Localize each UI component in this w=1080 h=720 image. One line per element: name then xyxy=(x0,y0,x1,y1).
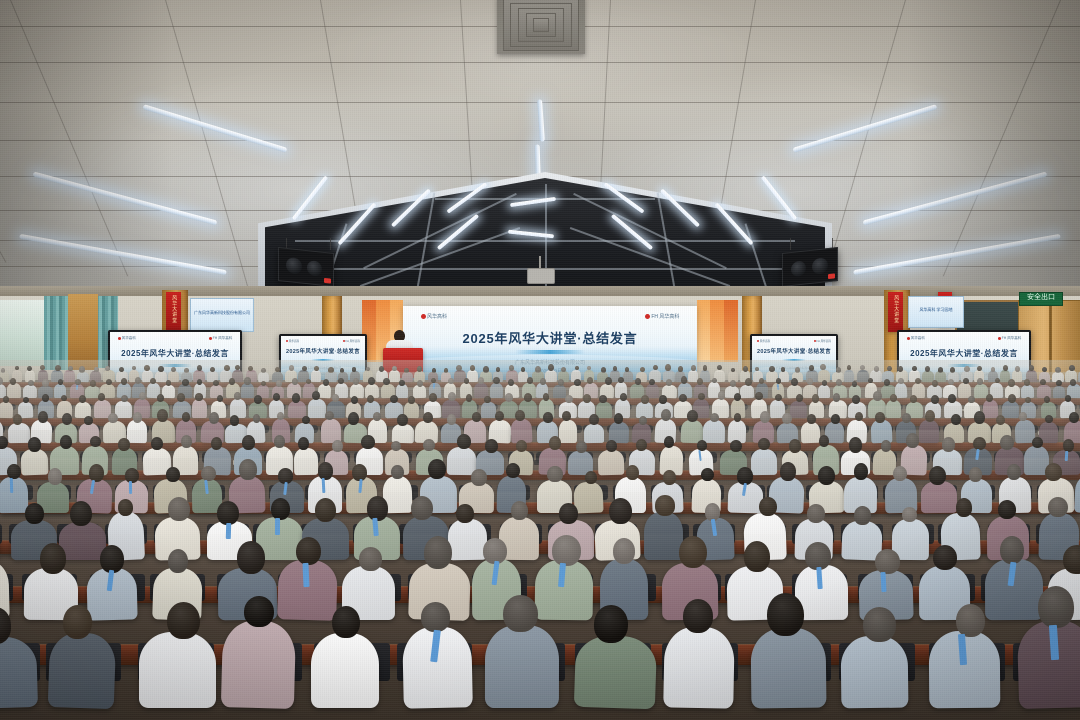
audience-member xyxy=(841,635,908,708)
audience-member-head xyxy=(915,378,922,385)
audience-member-head xyxy=(863,607,897,642)
audience-member-head xyxy=(157,394,164,402)
audience-member-head xyxy=(70,501,92,526)
audience-member xyxy=(293,447,317,475)
audience-member-head xyxy=(485,439,498,453)
audience-member-head xyxy=(125,468,139,483)
audience-member-head xyxy=(359,547,382,571)
audience-member-head xyxy=(893,466,907,482)
audience-member-head xyxy=(977,366,982,371)
audience-member-head xyxy=(968,396,975,404)
conference-hall-photo: 安全出口 风华大讲堂 风华大讲堂 广东风华高新科技股份有限公司 风华高科 学习园… xyxy=(0,0,1080,720)
audience-member-head xyxy=(1008,379,1015,387)
audience-member-head xyxy=(239,459,257,480)
logo-mark-icon xyxy=(645,314,650,319)
screen-logo-right: FH 风华高科 xyxy=(645,313,679,320)
lanyard xyxy=(776,384,779,390)
audience-member-head xyxy=(432,368,437,373)
audience-member-head xyxy=(1000,435,1014,451)
audience-member xyxy=(154,371,166,382)
audience-member-head xyxy=(276,380,282,387)
audience-member-head xyxy=(508,378,514,385)
audience-member-head xyxy=(351,395,358,404)
chair xyxy=(0,524,2,544)
audience-member xyxy=(895,382,907,398)
audience-member-head xyxy=(703,365,708,371)
audience-member xyxy=(7,383,21,398)
audience-member-head xyxy=(887,366,892,372)
audience-member-head xyxy=(509,365,514,371)
audience-member-head xyxy=(875,549,900,575)
poster-right-text: 风华高科 学习园地 xyxy=(909,307,963,313)
audience-member-head xyxy=(149,378,155,385)
audience-member-head xyxy=(296,537,322,566)
audience-member-head xyxy=(818,465,835,485)
audience-member-head xyxy=(730,380,736,387)
monitor-title: 2025年风华大讲堂·总结发言 xyxy=(752,347,836,355)
audience-member-head xyxy=(117,498,132,516)
audience-member-head xyxy=(40,543,66,574)
audience-member-head xyxy=(511,501,528,520)
audience-member-head xyxy=(390,441,400,451)
logo-mark-icon xyxy=(118,337,121,340)
audience-member-head xyxy=(1048,497,1068,518)
audience-member-head xyxy=(562,411,571,421)
audience-member-head xyxy=(678,536,706,569)
audience-member-head xyxy=(712,378,717,383)
audience-member-head xyxy=(852,395,860,404)
audience-member-head xyxy=(730,440,742,453)
audience-member xyxy=(1053,385,1066,398)
audience-member-head xyxy=(404,368,409,373)
audience-member xyxy=(139,632,216,708)
audience-member-head xyxy=(483,366,489,373)
audience-member-head xyxy=(301,416,309,424)
audience-member-head xyxy=(977,378,984,385)
monitor-logo-left: 风华高科 xyxy=(286,339,299,343)
audience-member-head xyxy=(924,410,934,422)
audience-member-head xyxy=(367,496,388,521)
audience-member-head xyxy=(929,466,946,485)
audience-member xyxy=(447,447,476,476)
audience-member-head xyxy=(121,395,128,402)
audience-member-head xyxy=(731,368,735,372)
audience-member-head xyxy=(794,367,800,373)
monitor-title: 2025年风华大讲堂·总结发言 xyxy=(281,347,365,355)
audience-member-head xyxy=(28,437,42,452)
audience-member-head xyxy=(565,395,573,404)
audience-member-head xyxy=(338,378,344,384)
audience-member-head xyxy=(195,393,202,401)
audience-member-head xyxy=(132,412,141,423)
audience-member-head xyxy=(805,542,831,570)
audience-member-head xyxy=(184,368,189,373)
audience-member-head xyxy=(854,412,862,422)
audience-member-head xyxy=(332,606,360,639)
audience-member-head xyxy=(105,379,111,386)
screen-logo-left-text: 风华高科 xyxy=(427,313,447,320)
stage-backdrop-strip xyxy=(724,300,738,362)
monitor-logo-right-text: FH 风华高科 xyxy=(213,336,233,341)
monitor-logo-left-text: 风华高科 xyxy=(760,339,770,343)
audience-member-head xyxy=(690,365,695,371)
audience-member-head xyxy=(806,414,815,424)
audience-member xyxy=(21,449,49,476)
audience-member-head xyxy=(399,380,405,386)
audience-member-head xyxy=(1032,437,1043,448)
audience-member-head xyxy=(168,497,191,521)
audience-member-head xyxy=(456,504,474,523)
audience-member-head xyxy=(298,436,309,450)
audience-member-head xyxy=(902,507,917,523)
audience-member-head xyxy=(332,440,343,452)
stage-backdrop-strip xyxy=(697,300,710,362)
audience-member xyxy=(664,626,735,708)
audience-member-head xyxy=(157,409,168,422)
audience-member-head xyxy=(599,395,607,403)
audience-member-head xyxy=(94,367,99,372)
monitor-title: 2025年风华大讲堂·总结发言 xyxy=(899,348,1029,359)
audience-member-head xyxy=(328,366,334,372)
banner-left: 风华大讲堂 xyxy=(166,292,181,332)
audience-member-head xyxy=(503,595,538,632)
curtain-left-a xyxy=(44,296,70,370)
lanyard xyxy=(302,563,309,587)
exit-door-right-leaf xyxy=(1049,302,1052,378)
audience-member-head xyxy=(470,365,475,371)
audience-member-head xyxy=(182,379,189,386)
audience-member-head xyxy=(540,378,546,385)
audience-member-head xyxy=(88,464,104,482)
audience-member-head xyxy=(428,459,446,479)
audience-member-head xyxy=(604,377,611,386)
audience-member-head xyxy=(638,416,646,425)
audience-member-head xyxy=(447,378,453,384)
audience-member-head xyxy=(423,536,452,570)
audience-member xyxy=(790,401,808,419)
audience-member-head xyxy=(552,535,581,566)
audience-member-head xyxy=(456,434,471,449)
audience-member-head xyxy=(134,377,140,384)
audience-member-head xyxy=(105,366,110,372)
audience-member xyxy=(162,385,175,398)
ceiling-projector xyxy=(527,268,555,284)
audience-member-head xyxy=(60,434,72,449)
audience-member-head xyxy=(576,441,587,453)
audience-member xyxy=(448,519,488,561)
audience-member-head xyxy=(13,414,22,425)
audience-member-head xyxy=(973,436,986,450)
audience-member-head xyxy=(881,440,891,452)
audience-member-head xyxy=(956,497,972,516)
audience-member-head xyxy=(718,391,725,400)
audience-member-head xyxy=(24,502,43,523)
audience-member-head xyxy=(62,605,92,640)
audience-member-head xyxy=(543,412,553,423)
audience-member-head xyxy=(1007,394,1015,403)
logo-mark-icon xyxy=(286,340,288,342)
audience-member-head xyxy=(158,366,164,372)
audience-member-head xyxy=(68,366,73,371)
poster-right: 风华高科 学习园地 xyxy=(908,296,964,328)
audience-member-head xyxy=(594,604,629,643)
main-screen-title: 2025年风华大讲堂·总结发言 xyxy=(403,328,697,347)
audience-member-head xyxy=(315,498,336,522)
audience-member xyxy=(490,383,504,398)
audience-member-head xyxy=(755,392,763,400)
audience-member-head xyxy=(1069,412,1079,423)
audience-member-head xyxy=(23,397,29,403)
audience-member xyxy=(485,625,560,708)
audience-member-head xyxy=(955,604,985,638)
audience-member xyxy=(573,634,656,709)
audience-member-head xyxy=(200,466,215,481)
audience-member-head xyxy=(709,413,718,423)
audience-member-head xyxy=(963,378,969,384)
monitor-logo-left: 风华高科 xyxy=(907,336,925,341)
audience-member-head xyxy=(478,377,484,384)
audience-member-head xyxy=(229,378,235,385)
monitor-logo-right: FH 风华高科 xyxy=(814,339,831,343)
audience-member-head xyxy=(248,366,253,371)
audience-member xyxy=(559,420,577,443)
logo-mark-icon xyxy=(757,340,759,342)
audience-member xyxy=(844,370,854,382)
audience-member-head xyxy=(836,367,841,373)
monitor-logo-right: FH 风华高科 xyxy=(209,336,233,341)
audience-member-head xyxy=(812,394,819,403)
lanyard xyxy=(75,385,77,391)
audience-member-head xyxy=(38,411,48,423)
audience-member-head xyxy=(408,395,415,403)
audience-member-head xyxy=(1025,396,1031,402)
audience-member-head xyxy=(902,413,911,423)
audience-member-head xyxy=(79,395,86,403)
banner-right: 风华大讲堂 xyxy=(888,292,903,332)
poster-left: 广东风华高新科技股份有限公司 xyxy=(190,298,254,332)
jbl-logo xyxy=(828,273,835,279)
audience-member-head xyxy=(10,378,16,385)
audience-member-head xyxy=(1007,464,1021,480)
audience-member-head xyxy=(447,392,455,401)
audience-member xyxy=(886,400,901,418)
exit-sign: 安全出口 xyxy=(1019,292,1063,306)
audience-member-head xyxy=(950,367,955,373)
audience-member-head xyxy=(809,365,814,371)
audience-member-head xyxy=(535,366,541,373)
audience-member-head xyxy=(663,470,676,485)
audience-member xyxy=(311,370,322,382)
audience-member-head xyxy=(464,378,469,384)
lanyard xyxy=(1064,451,1067,461)
audience-member xyxy=(481,402,496,418)
audience-member-head xyxy=(421,602,450,632)
audience-member-head xyxy=(999,536,1023,564)
audience-member-head xyxy=(683,599,713,634)
audience-member-head xyxy=(557,379,563,386)
audience-member-head xyxy=(361,435,375,449)
audience-member-head xyxy=(254,395,262,404)
audience-member-head xyxy=(55,365,61,371)
audience-member xyxy=(308,399,326,418)
audience-member-head xyxy=(874,365,879,371)
audience-member-head xyxy=(769,366,775,372)
audience-member xyxy=(644,512,683,560)
monitor-logo-right: FH 风华高科 xyxy=(343,339,360,343)
audience-member-head xyxy=(42,394,50,402)
audience-member-head xyxy=(224,365,230,371)
audience-member-head xyxy=(379,366,384,372)
audience-member xyxy=(574,481,604,513)
audience-member-head xyxy=(758,438,770,450)
audience-member-head xyxy=(108,413,118,423)
poster-left-text: 广东风华高新科技股份有限公司 xyxy=(191,310,253,316)
audience-member-head xyxy=(332,394,339,402)
audience-member-head xyxy=(210,367,215,372)
banner-right-text: 风华大讲堂 xyxy=(893,295,898,323)
audience-member-head xyxy=(167,602,200,639)
audience-member xyxy=(127,420,147,443)
audience-member-head xyxy=(3,396,9,403)
audience-member-head xyxy=(585,471,598,485)
audience-member-head xyxy=(574,379,581,386)
audience-member-head xyxy=(734,393,741,401)
audience-member-head xyxy=(516,440,527,452)
audience-member xyxy=(818,385,830,398)
monitor-title: 2025年风华大讲堂·总结发言 xyxy=(110,348,240,359)
audience-member xyxy=(921,481,958,513)
ceiling-speaker-right xyxy=(782,247,838,287)
audience-member-head xyxy=(182,412,190,422)
audience-member-head xyxy=(587,377,593,384)
audience-member-head xyxy=(301,366,306,371)
logo-mark-icon xyxy=(907,337,910,340)
audience-member-head xyxy=(626,465,639,480)
audience-member-head xyxy=(353,378,360,385)
audience-member-head xyxy=(1038,586,1075,629)
audience-member-head xyxy=(274,435,285,448)
logo-mark-icon xyxy=(421,314,426,319)
audience-member-head xyxy=(472,412,482,422)
audience-member-head xyxy=(849,437,862,453)
audience-member xyxy=(1002,401,1019,418)
audience-member-head xyxy=(234,392,241,400)
lanyard xyxy=(275,518,280,535)
audience-member-head xyxy=(618,377,624,383)
audience-member-head xyxy=(743,540,770,572)
audience-member-head xyxy=(649,379,655,385)
audience-member-head xyxy=(931,394,939,403)
audience-member-head xyxy=(84,416,93,425)
audience-member-head xyxy=(244,377,251,385)
monitor-logo-left-text: 风华高科 xyxy=(911,336,925,341)
audience-member-head xyxy=(831,414,840,424)
audience-member-head xyxy=(322,379,328,386)
audience-member-head xyxy=(1070,379,1076,386)
audience-member-head xyxy=(679,394,687,402)
audience-member-head xyxy=(743,366,748,372)
audience-member-head xyxy=(373,412,381,421)
audience-member-head xyxy=(181,435,193,448)
audience-member xyxy=(750,628,826,709)
banner-left-text: 风华大讲堂 xyxy=(171,295,176,323)
audience-member-head xyxy=(912,366,917,371)
audience-member-head xyxy=(397,414,408,426)
audience-member-head xyxy=(505,393,513,402)
audience-member-head xyxy=(854,505,871,524)
audience-member-head xyxy=(391,464,404,478)
audience-member xyxy=(48,632,117,709)
audience-member-head xyxy=(780,461,797,480)
audience-member-head xyxy=(659,395,667,404)
audience-member-head xyxy=(1014,366,1019,372)
audience-member-head xyxy=(548,436,560,450)
monitor-logo-left: 风华高科 xyxy=(757,339,770,343)
window-left xyxy=(0,300,46,366)
audience-member xyxy=(596,402,612,418)
monitor-logo-left-text: 风华高科 xyxy=(122,336,136,341)
audience-member-head xyxy=(447,414,456,425)
audience-member-head xyxy=(872,391,881,401)
audience-member-head xyxy=(1003,365,1008,371)
audience-member-head xyxy=(306,379,311,384)
audience-member xyxy=(318,384,332,398)
audience-member xyxy=(413,385,426,398)
audience-member-head xyxy=(938,367,943,373)
audience-member-head xyxy=(271,498,290,520)
audience-member-head xyxy=(601,367,606,373)
audience-member-head xyxy=(998,500,1016,519)
audience-member xyxy=(553,385,566,398)
audience-member xyxy=(583,423,603,443)
wood-trim-left xyxy=(68,294,98,370)
audience-member-head xyxy=(236,540,264,573)
audience-member-head xyxy=(969,467,982,482)
audience-member-head xyxy=(292,393,301,403)
stage-backdrop-strip xyxy=(710,300,724,362)
audience-member-head xyxy=(697,440,708,451)
audience-member-head xyxy=(890,394,897,402)
audience-member-head xyxy=(1063,545,1080,574)
audience-member xyxy=(64,370,75,383)
audience-member-head xyxy=(42,379,49,387)
audience-member-head xyxy=(898,366,903,372)
jbl-logo xyxy=(324,278,331,284)
audience-member-head xyxy=(493,377,500,384)
audience-member-head xyxy=(217,395,223,402)
audience-member-head xyxy=(948,394,956,403)
audience-member-head xyxy=(666,379,672,386)
audience-member-head xyxy=(515,410,525,421)
audience-member-head xyxy=(1055,367,1061,373)
audience-member xyxy=(919,420,939,443)
audience-member-head xyxy=(318,462,333,480)
audience-member xyxy=(0,401,14,418)
audience-member xyxy=(241,383,255,398)
audience-member-head xyxy=(79,366,85,373)
audience-member-head xyxy=(789,439,801,453)
logo-mark-icon xyxy=(814,340,816,342)
audience-member xyxy=(0,477,27,514)
audience-member-head xyxy=(543,393,550,401)
audience-member-head xyxy=(974,411,985,424)
audience-member-head xyxy=(852,381,857,387)
audience-member-head xyxy=(561,367,566,372)
audience-member-head xyxy=(166,467,180,482)
audience-member-head xyxy=(90,380,96,387)
audience-member-head xyxy=(558,503,577,524)
audience-member-head xyxy=(244,595,275,627)
